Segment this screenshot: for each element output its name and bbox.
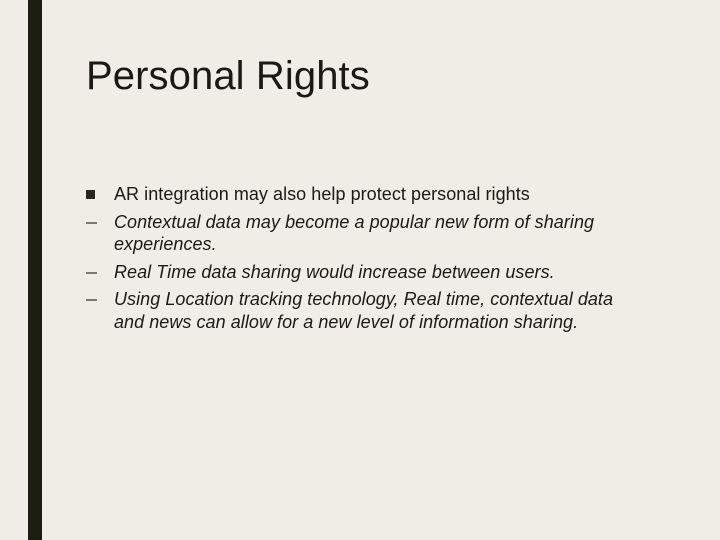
dash-bullet-icon xyxy=(86,288,114,301)
list-item: AR integration may also help protect per… xyxy=(86,183,631,206)
left-accent-bar xyxy=(28,0,42,540)
list-item: Contextual data may become a popular new… xyxy=(86,211,631,256)
list-item-label: AR integration may also help protect per… xyxy=(114,183,631,206)
list-item: Using Location tracking technology, Real… xyxy=(86,288,631,333)
presentation-slide: Personal Rights AR integration may also … xyxy=(0,0,720,540)
dash-bullet-icon xyxy=(86,261,114,274)
dash-bullet-icon xyxy=(86,211,114,224)
list-item-label: Using Location tracking technology, Real… xyxy=(114,288,631,333)
page-title: Personal Rights xyxy=(86,52,646,100)
square-bullet-icon xyxy=(86,183,114,199)
list-item: Real Time data sharing would increase be… xyxy=(86,261,631,284)
list-item-label: Real Time data sharing would increase be… xyxy=(114,261,631,284)
bullet-list: AR integration may also help protect per… xyxy=(86,183,631,333)
list-item-label: Contextual data may become a popular new… xyxy=(114,211,631,256)
